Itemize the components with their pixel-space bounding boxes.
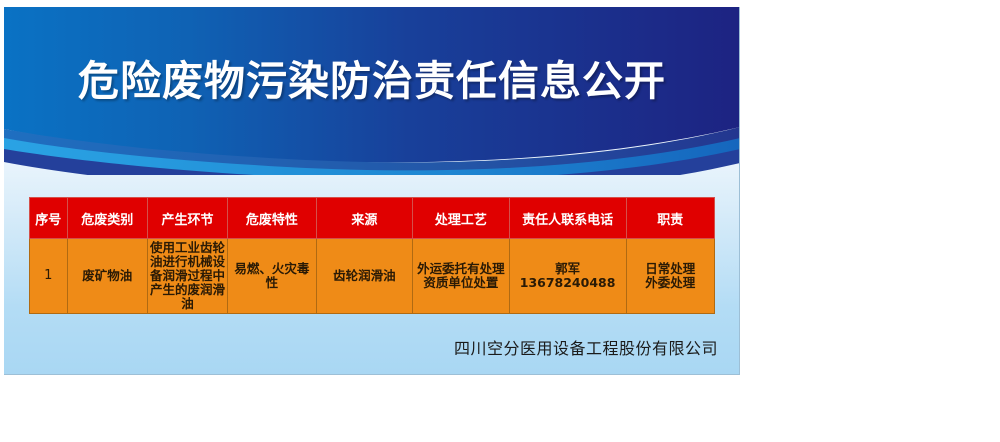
contact-phone: 13678240488 [511, 276, 625, 291]
column-header-process: 处理工艺 [413, 198, 510, 239]
poster-banner: 危险废物污染防治责任信息公开 [4, 7, 740, 175]
duty-line-1: 日常处理 [628, 262, 713, 277]
cell-category: 废矿物油 [67, 239, 147, 314]
column-header-index: 序号 [30, 198, 68, 239]
column-header-characteristics: 危废特性 [228, 198, 316, 239]
page-title: 危险废物污染防治责任信息公开 [4, 56, 740, 106]
cell-stage: 使用工业齿轮油进行机械设备润滑过程中产生的废润滑油 [147, 239, 227, 314]
cell-duty: 日常处理 外委处理 [626, 239, 714, 314]
column-header-category: 危废类别 [67, 198, 147, 239]
hazardous-waste-table: 序号 危废类别 产生环节 危废特性 来源 处理工艺 责任人联系电话 职责 1 废… [29, 197, 715, 314]
column-header-contact-phone: 责任人联系电话 [509, 198, 626, 239]
cell-source: 齿轮润滑油 [316, 239, 413, 314]
information-disclosure-poster: 危险废物污染防治责任信息公开 序号 危废类别 产生环节 危废特性 来源 处理工艺… [4, 7, 740, 375]
cell-process: 外运委托有处理资质单位处置 [413, 239, 510, 314]
cell-index: 1 [30, 239, 68, 314]
column-header-source: 来源 [316, 198, 413, 239]
contact-name: 郭军 [511, 262, 625, 277]
table-row: 1 废矿物油 使用工业齿轮油进行机械设备润滑过程中产生的废润滑油 易燃、火灾毒性… [30, 239, 715, 314]
cell-characteristics: 易燃、火灾毒性 [228, 239, 316, 314]
company-name: 四川空分医用设备工程股份有限公司 [4, 335, 740, 359]
column-header-stage: 产生环节 [147, 198, 227, 239]
column-header-duty: 职责 [626, 198, 714, 239]
duty-line-2: 外委处理 [628, 276, 713, 291]
table-header-row: 序号 危废类别 产生环节 危废特性 来源 处理工艺 责任人联系电话 职责 [30, 198, 715, 239]
cell-contact: 郭军 13678240488 [509, 239, 626, 314]
